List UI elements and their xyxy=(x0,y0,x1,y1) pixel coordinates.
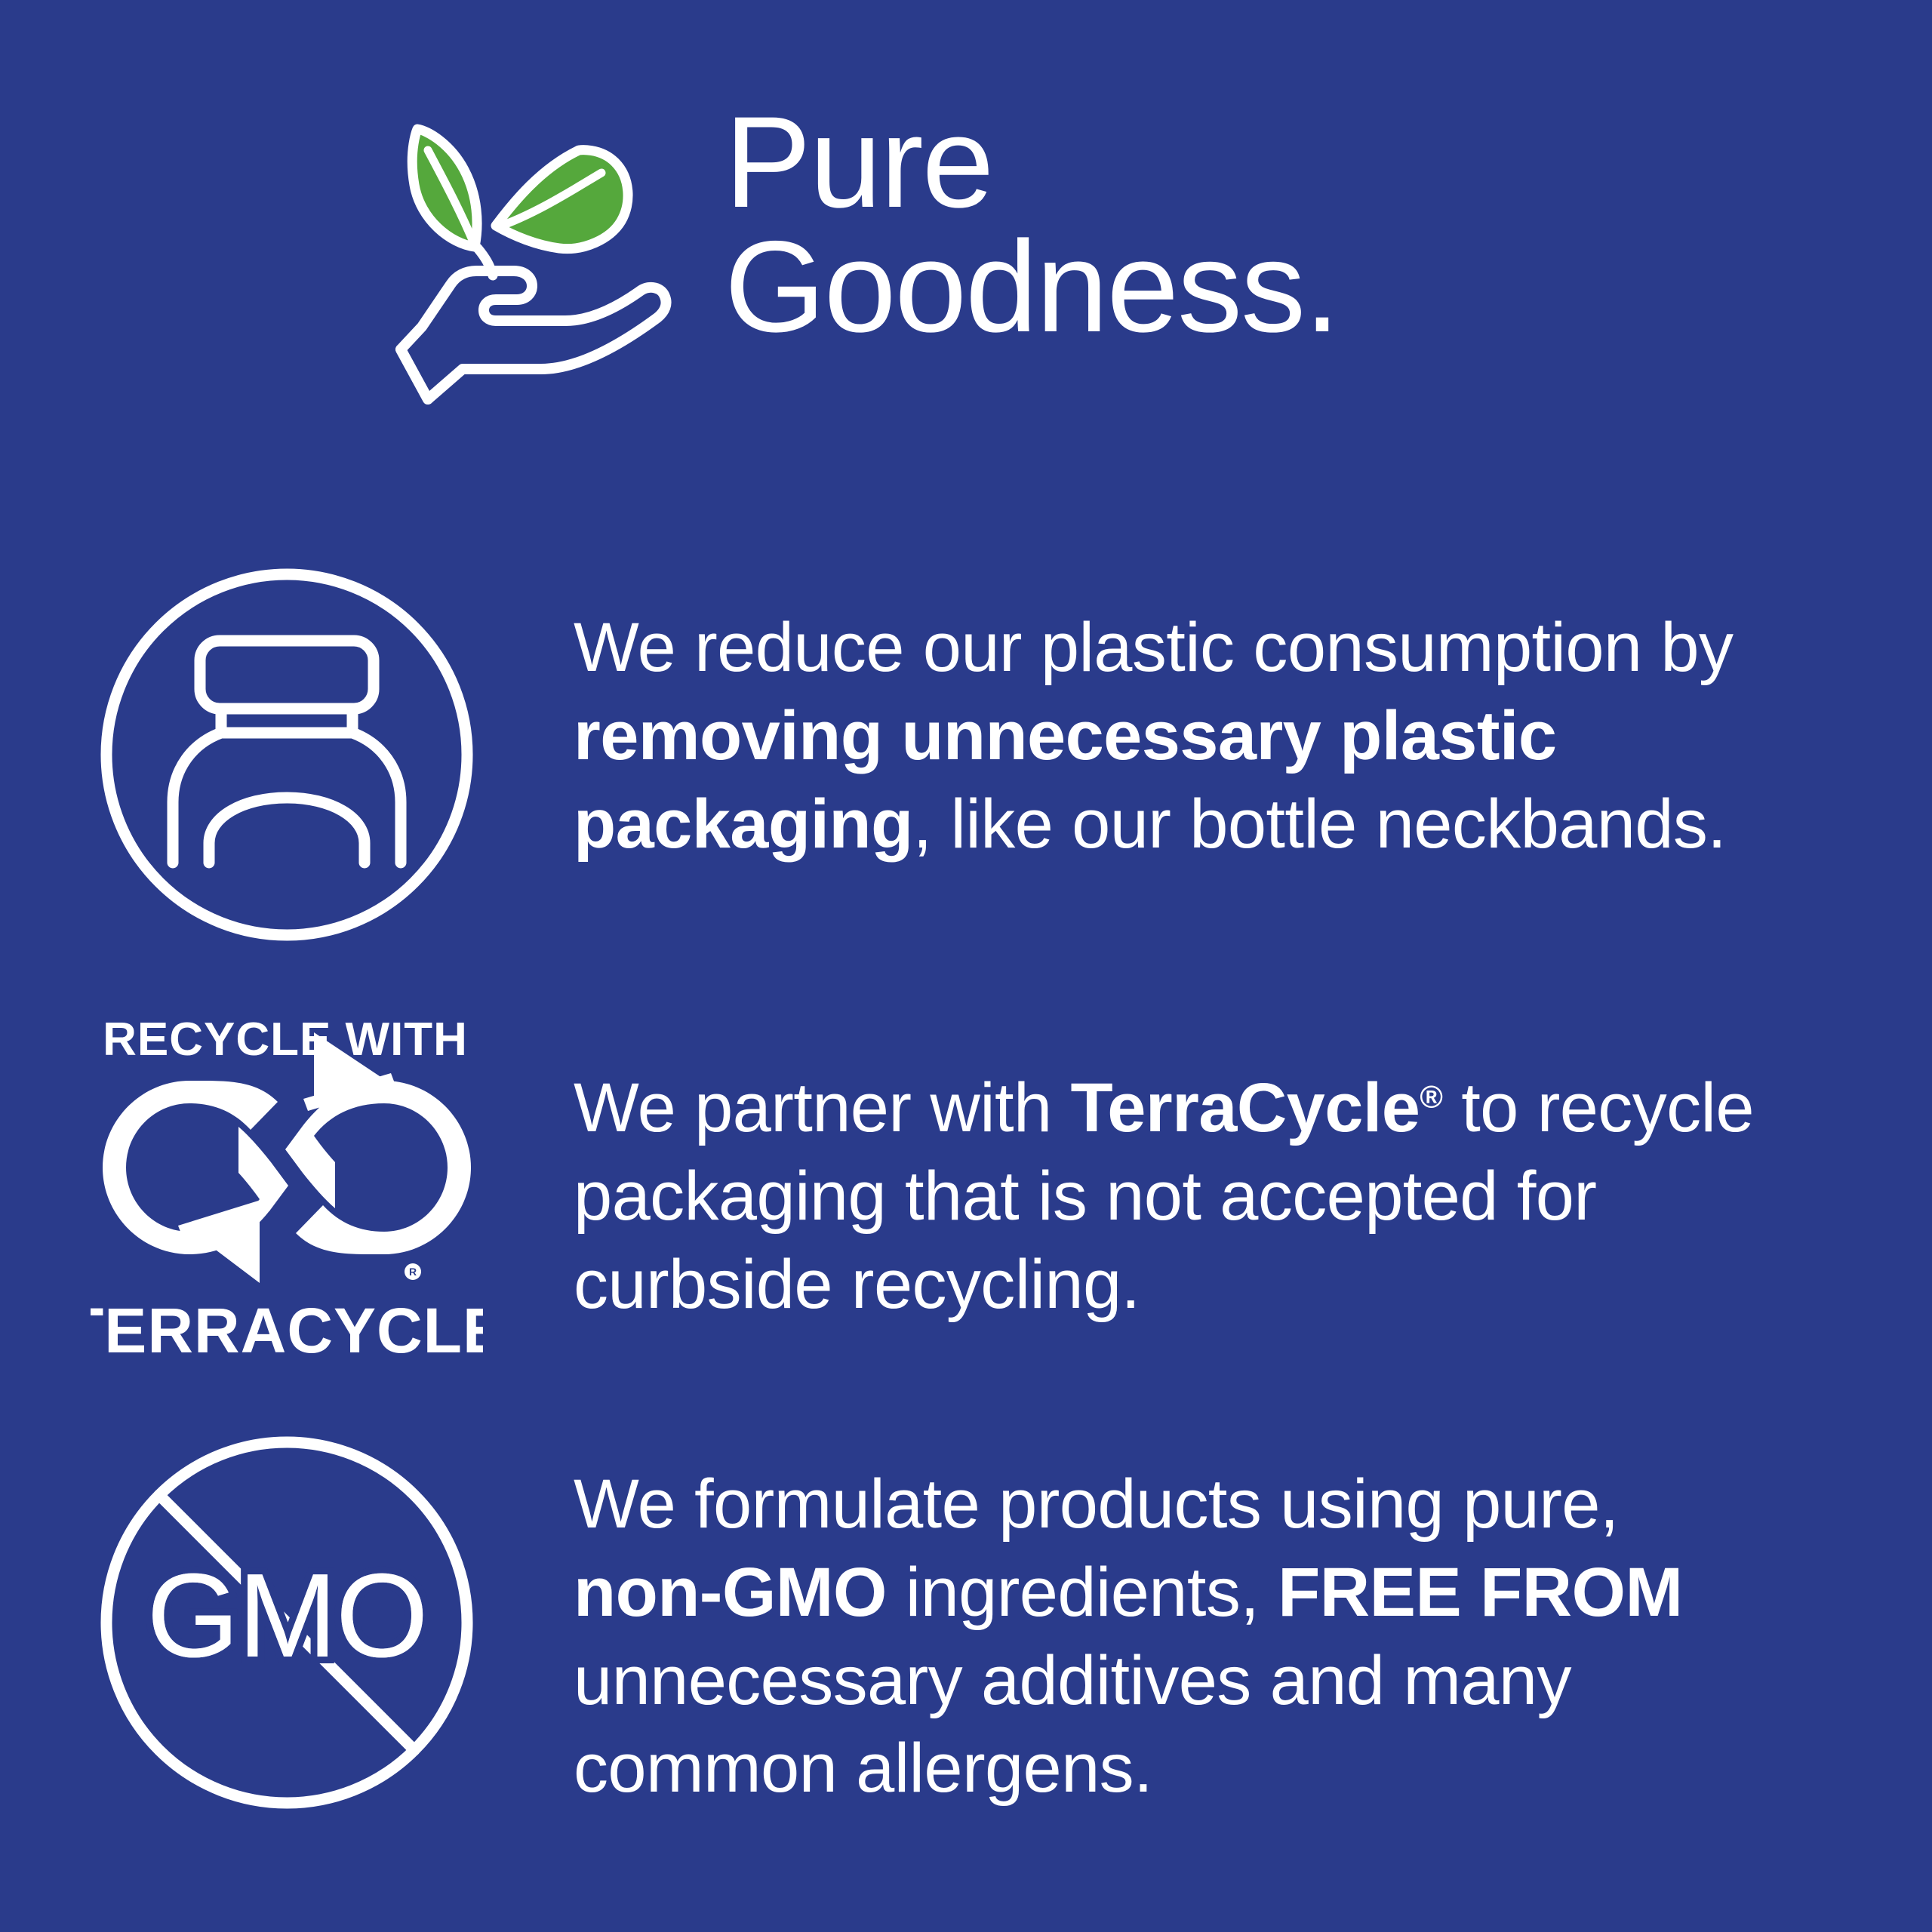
bottle-in-circle-icon xyxy=(94,562,479,947)
text-cell: We reduce our plastic consumption by rem… xyxy=(574,562,1932,868)
benefit-text-plastic: We reduce our plastic consumption by rem… xyxy=(574,604,1774,868)
text-cell: We formulate products using pure, non-GM… xyxy=(574,1430,1932,1813)
svg-text:R: R xyxy=(409,1266,417,1278)
benefit-text-gmo: We formulate products using pure, non-GM… xyxy=(574,1460,1774,1813)
header: Pure Goodness. xyxy=(381,94,1589,419)
svg-text:RECYCLE WITH: RECYCLE WITH xyxy=(103,1014,468,1066)
benefit-row-terracycle: RECYCLE WITH R xyxy=(0,1011,1932,1366)
terracycle-logo-icon: RECYCLE WITH R xyxy=(91,1011,483,1366)
icon-cell: GMO GMO xyxy=(0,1430,574,1815)
text-cell: We partner with TerraCycle® to recycle p… xyxy=(574,1011,1932,1328)
icon-cell xyxy=(0,562,574,947)
hand-holding-sprout-icon xyxy=(381,103,683,405)
svg-text:TERRACYCLE: TERRACYCLE xyxy=(91,1295,483,1366)
page-title: Pure Goodness. xyxy=(724,94,1339,349)
svg-text:GMO: GMO xyxy=(146,1549,426,1682)
no-gmo-icon: GMO GMO xyxy=(94,1430,479,1815)
pure-goodness-infographic: Pure Goodness. We reduce ou xyxy=(0,0,1932,1932)
benefit-row-plastic: We reduce our plastic consumption by rem… xyxy=(0,562,1932,947)
benefit-text-terracycle: We partner with TerraCycle® to recycle p… xyxy=(574,1064,1774,1328)
icon-cell: RECYCLE WITH R xyxy=(0,1011,574,1366)
benefit-row-gmo: GMO GMO We formulate products using pure… xyxy=(0,1430,1932,1815)
